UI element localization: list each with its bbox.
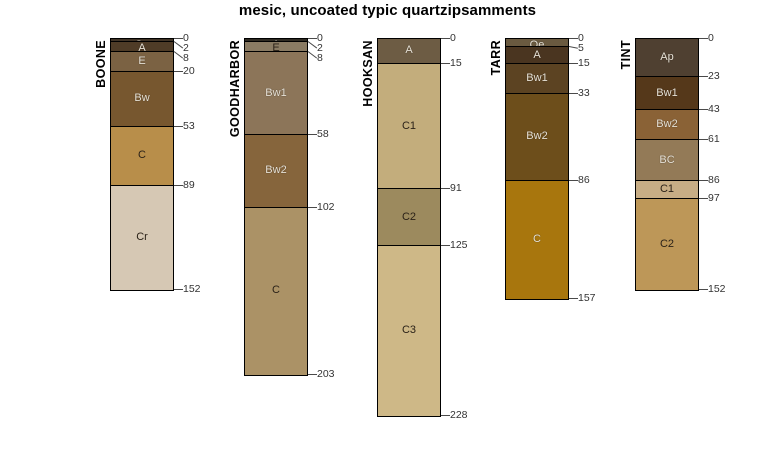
depth-tick <box>699 289 708 290</box>
depth-tick <box>699 180 708 181</box>
depth-value: 86 <box>708 174 720 186</box>
soil-horizon[interactable]: Oe <box>506 39 568 47</box>
soil-horizon[interactable]: Bw <box>111 72 173 127</box>
soil-horizon[interactable]: E <box>111 52 173 72</box>
depth-tick <box>569 298 578 299</box>
depth-value: 53 <box>183 120 195 132</box>
depth-value: 97 <box>708 192 720 204</box>
depth-value: 125 <box>450 239 468 251</box>
horizon-label: Bw2 <box>245 164 307 176</box>
soil-horizon[interactable]: A <box>378 39 440 64</box>
horizon-label: C3 <box>378 324 440 336</box>
horizon-label: Bw2 <box>506 130 568 142</box>
depth-tick <box>308 207 317 208</box>
soil-horizon[interactable]: C <box>245 208 307 375</box>
depth-value: 8 <box>183 52 189 64</box>
depth-value: 102 <box>317 201 335 213</box>
depth-tick <box>174 185 183 186</box>
horizon-label: A <box>378 44 440 56</box>
depth-tick <box>441 188 450 189</box>
depth-value: 89 <box>183 179 195 191</box>
horizon-label: Bw <box>111 92 173 104</box>
pedon-label: BOONE <box>94 40 108 88</box>
depth-tick <box>308 41 318 48</box>
depth-tick <box>699 198 708 199</box>
depth-tick <box>174 289 183 290</box>
depth-tick <box>569 180 578 181</box>
horizon-label: Ap <box>636 51 698 63</box>
soil-horizon[interactable]: Bw1 <box>636 77 698 110</box>
horizon-label: C1 <box>378 120 440 132</box>
soil-horizon[interactable]: C2 <box>636 199 698 290</box>
depth-value: 15 <box>450 57 462 69</box>
depth-value: 228 <box>450 409 468 421</box>
soil-horizon[interactable]: C1 <box>378 64 440 190</box>
horizon-label: E <box>245 42 307 52</box>
soil-horizon[interactable]: Bw1 <box>506 64 568 94</box>
soil-horizon[interactable]: C2 <box>378 189 440 245</box>
depth-tick <box>699 76 708 77</box>
soil-horizon[interactable]: E <box>245 42 307 52</box>
depth-value: 33 <box>578 87 590 99</box>
horizon-label: C <box>506 233 568 245</box>
depth-tick <box>569 63 578 64</box>
depth-value: 43 <box>708 103 720 115</box>
horizon-label: C2 <box>636 238 698 250</box>
depth-tick <box>174 38 183 39</box>
depth-value: 152 <box>183 283 201 295</box>
horizon-label: Cr <box>111 231 173 243</box>
horizon-label: C <box>111 149 173 161</box>
soil-horizon[interactable]: C3 <box>378 246 440 416</box>
horizon-label: C2 <box>378 211 440 223</box>
soil-horizon[interactable]: Bw2 <box>245 135 307 208</box>
depth-tick <box>308 134 317 135</box>
horizon-label: Oe <box>506 39 568 47</box>
horizon-label: C1 <box>636 183 698 195</box>
depth-value: 86 <box>578 174 590 186</box>
pedon-label: TARR <box>489 40 503 75</box>
profile-column[interactable]: ApBw1Bw2BCC1C2 <box>635 38 699 291</box>
horizon-label: BC <box>636 154 698 166</box>
depth-value: 0 <box>708 32 714 44</box>
depth-tick <box>174 51 184 59</box>
soil-horizon[interactable]: Cr <box>111 186 173 290</box>
depth-tick <box>308 51 318 59</box>
soil-horizon[interactable]: Bw1 <box>245 52 307 135</box>
depth-value: 91 <box>450 182 462 194</box>
depth-tick <box>174 71 183 72</box>
pedon-label: HOOKSAN <box>361 40 375 107</box>
depth-tick <box>699 139 708 140</box>
depth-tick <box>699 38 708 39</box>
horizon-label: C <box>245 284 307 296</box>
horizon-label: E <box>111 55 173 67</box>
depth-value: 15 <box>578 57 590 69</box>
depth-tick <box>308 38 317 39</box>
soil-horizon[interactable]: C1 <box>636 181 698 199</box>
depth-value: 5 <box>578 42 584 54</box>
horizon-label: Bw1 <box>245 87 307 99</box>
depth-tick <box>569 38 578 39</box>
chart-title: mesic, uncoated typic quartzipsamments <box>0 2 775 19</box>
soil-horizon[interactable]: A <box>506 47 568 64</box>
depth-tick <box>308 374 317 375</box>
soil-horizon[interactable]: A <box>111 42 173 52</box>
depth-value: 61 <box>708 133 720 145</box>
depth-tick <box>441 63 450 64</box>
depth-tick <box>174 126 183 127</box>
profile-column[interactable]: AEBw1Bw2C <box>244 38 308 376</box>
soil-horizon[interactable]: BC <box>636 140 698 181</box>
profile-column[interactable]: OeAEBwCCr <box>110 38 174 291</box>
depth-tick <box>441 38 450 39</box>
depth-value: 23 <box>708 70 720 82</box>
profile-column[interactable]: AC1C2C3 <box>377 38 441 417</box>
horizon-label: A <box>506 49 568 61</box>
depth-tick <box>569 93 578 94</box>
depth-tick <box>699 109 708 110</box>
horizon-label: Bw1 <box>506 72 568 84</box>
depth-value: 58 <box>317 128 329 140</box>
profile-column[interactable]: OeABw1Bw2C <box>505 38 569 300</box>
depth-value: 152 <box>708 283 726 295</box>
soil-horizon[interactable]: C <box>111 127 173 187</box>
soil-horizon[interactable]: Bw2 <box>506 94 568 182</box>
soil-horizon[interactable]: Ap <box>636 39 698 77</box>
depth-value: 8 <box>317 52 323 64</box>
horizon-label: A <box>111 42 173 52</box>
horizon-label: Bw2 <box>636 118 698 130</box>
depth-tick <box>441 415 450 416</box>
depth-tick <box>174 41 184 48</box>
pedon-label: GOODHARBOR <box>228 40 242 137</box>
pedon-label: TINT <box>619 40 633 69</box>
soil-profile-chart: mesic, uncoated typic quartzipsamments B… <box>0 0 775 450</box>
depth-tick <box>569 46 578 49</box>
depth-value: 203 <box>317 368 335 380</box>
depth-value: 157 <box>578 292 596 304</box>
soil-horizon[interactable]: Bw2 <box>636 110 698 140</box>
depth-value: 0 <box>450 32 456 44</box>
soil-horizon[interactable]: C <box>506 181 568 298</box>
depth-tick <box>441 245 450 246</box>
horizon-label: Bw1 <box>636 87 698 99</box>
depth-value: 20 <box>183 65 195 77</box>
